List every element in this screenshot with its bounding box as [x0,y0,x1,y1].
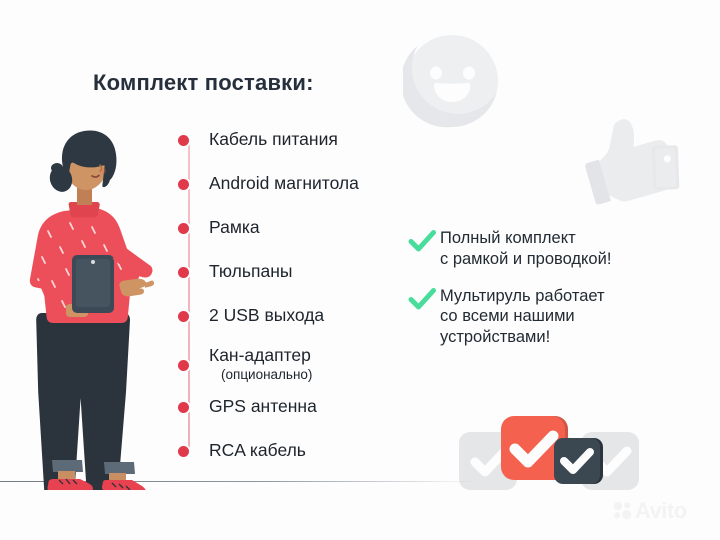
list-item-label: GPS антенна [209,397,317,417]
list-item: GPS антенна [178,397,317,417]
list-item: Кабель питания [178,130,338,150]
benefit-line: со всеми нашими [440,306,605,327]
list-item-label: Кан-адаптер [209,346,312,366]
bullet-dot-icon [178,311,189,322]
watermark-label: Avito [635,500,687,521]
list-item: Android магнитола [178,174,359,194]
bullet-dot-icon [178,402,189,413]
bullet-dot-icon [178,135,189,146]
bullet-dot-icon [178,223,189,234]
bullet-dot-icon [178,267,189,278]
bullet-dot-icon [178,360,189,371]
benefit-line: устройствами! [440,327,605,348]
list-item: Кан-адаптер (опционально) [178,346,312,382]
list-item-label: Кабель питания [209,130,338,150]
list-item-sublabel: (опционально) [221,367,312,383]
woman-with-tablet-illustration [8,105,168,490]
list-item: RCA кабель [178,441,306,461]
list-item-label: Android магнитола [209,174,359,194]
bullet-dot-icon [178,179,189,190]
list-item: Рамка [178,218,260,238]
check-icon [408,285,436,313]
list-item-label: Рамка [209,218,260,238]
benefit-item: Мультируль работает со всеми нашими устр… [408,286,698,348]
page-title: Комплект поставки: [93,70,314,96]
smiley-face-icon [403,32,501,130]
list-item-label: RCA кабель [209,441,306,461]
benefits-list: Полный комплект с рамкой и проводкой! Му… [408,228,698,364]
list-item-label: 2 USB выхода [209,306,324,326]
thumbs-up-icon [578,104,690,214]
checkbox-tiles-icon [458,406,640,498]
benefit-line: Полный комплект [440,228,611,249]
package-contents-list: Кабель питания Android магнитола Рамка Т… [178,130,438,460]
promo-canvas: Комплект поставки: Кабель питания Androi… [0,0,720,540]
benefit-item: Полный комплект с рамкой и проводкой! [408,228,698,270]
list-item: Тюльпаны [178,262,292,282]
benefit-line: Мультируль работает [440,286,605,307]
list-item: 2 USB выхода [178,306,324,326]
avito-logo-icon [612,500,633,521]
benefit-line: с рамкой и проводкой! [440,249,611,270]
list-item-label: Тюльпаны [209,262,292,282]
bullet-dot-icon [178,446,189,457]
check-icon [408,227,436,255]
avito-watermark: Avito [612,500,687,521]
